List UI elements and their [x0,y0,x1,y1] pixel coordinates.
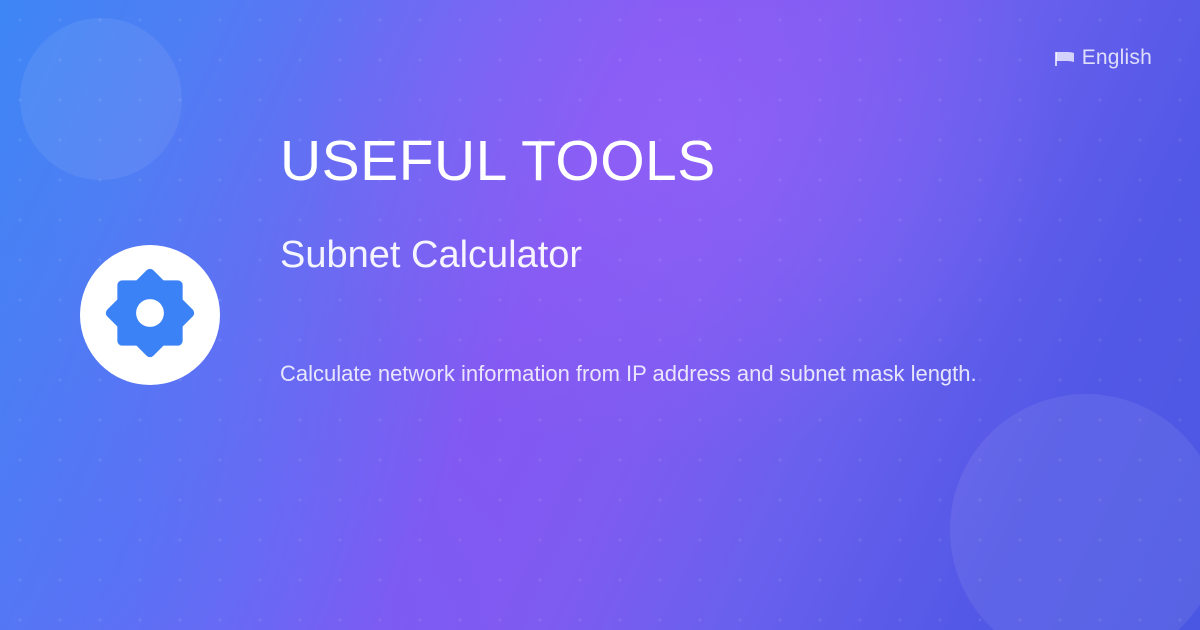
page-title: Subnet Calculator [280,236,582,274]
eight-point-star-icon [102,265,198,366]
site-title: USEFUL TOOLS [280,133,716,190]
card-content: USEFUL TOOLS Subnet Calculator Calculate… [280,0,1110,630]
language-selector-label: English [1082,47,1152,68]
brand-icon-badge [80,245,220,385]
flag-icon [1055,50,1077,66]
decorative-circle-top-left [20,18,182,180]
og-preview-card: English USEFUL TOOLS Subnet Calculator C… [0,0,1200,630]
language-selector[interactable]: English [1055,47,1152,68]
page-description: Calculate network information from IP ad… [280,359,977,389]
